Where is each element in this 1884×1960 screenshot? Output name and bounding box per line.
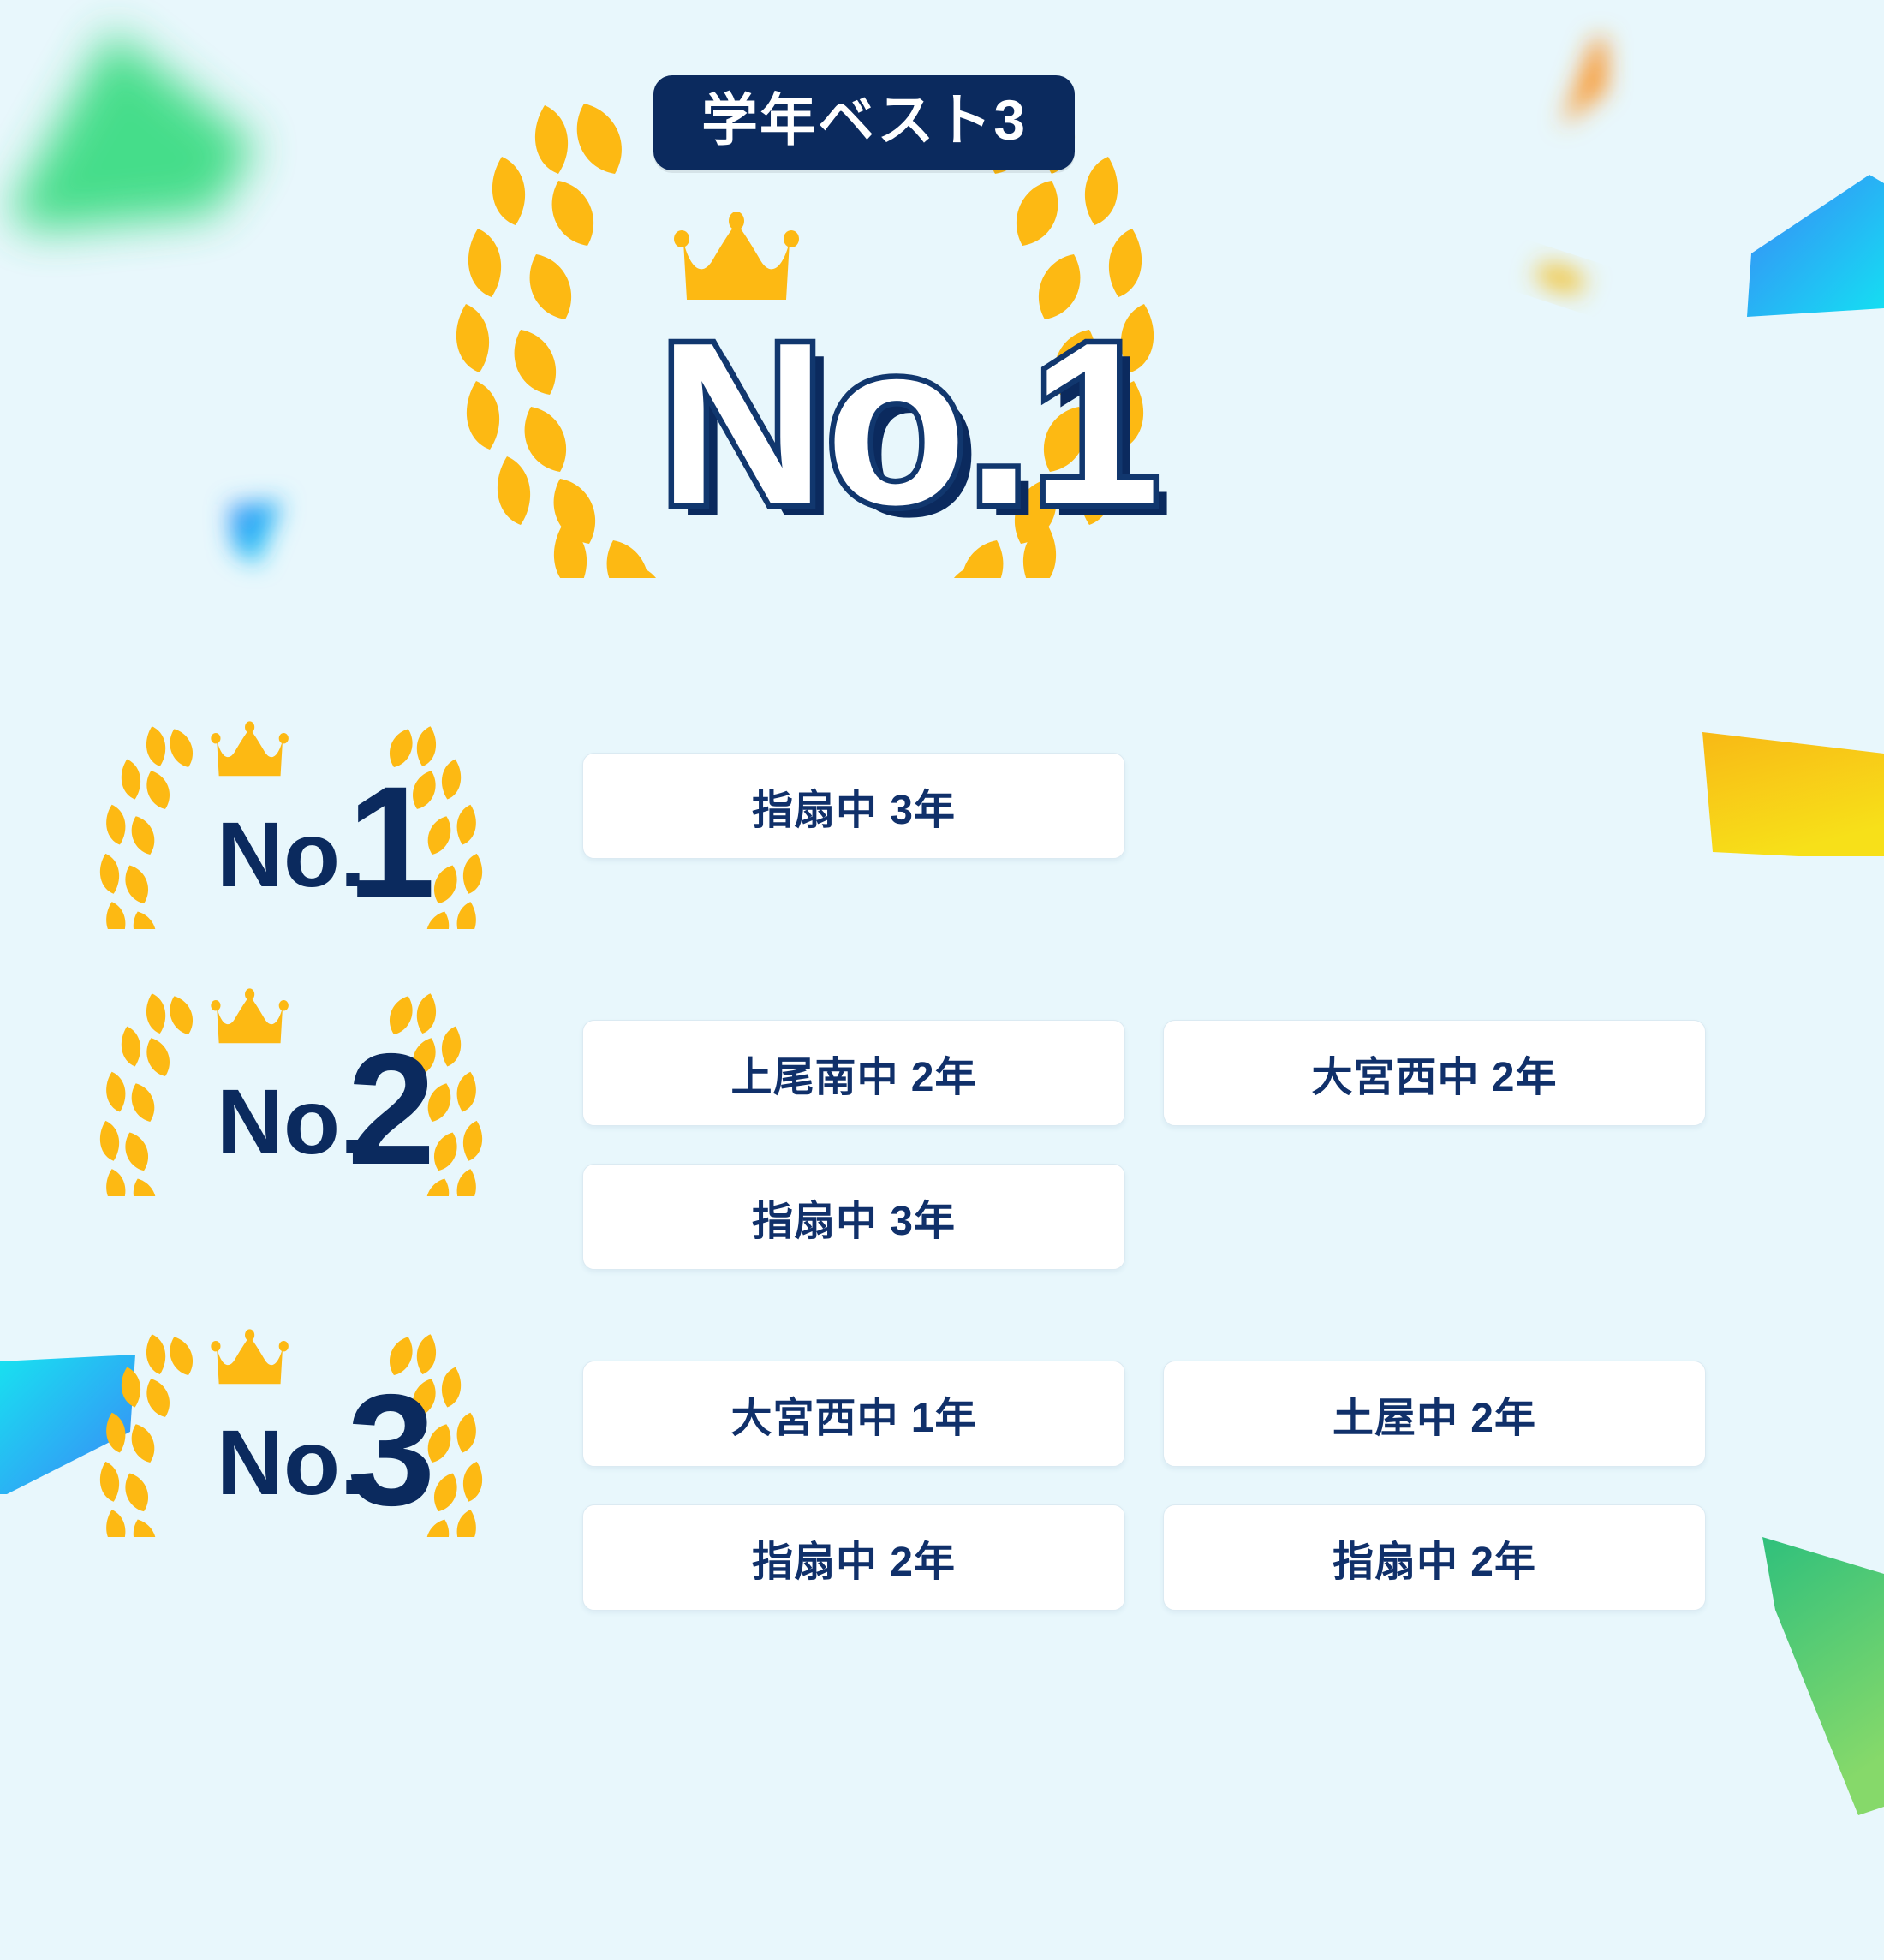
rank-medal-number: 3 — [348, 1362, 436, 1537]
result-card[interactable]: 大宮西中 2年 — [1163, 1020, 1706, 1126]
result-card[interactable]: 大宮西中 1年 — [582, 1361, 1125, 1467]
result-card[interactable]: 指扇中 3年 — [582, 1164, 1125, 1270]
ranking-row: No. 3 大宮西中 1年 土屋中 2年 指扇中 2年 指扇中 2年 — [0, 1323, 1884, 1611]
result-card[interactable]: 指扇中 2年 — [1163, 1504, 1706, 1611]
rank-medal-label: No. — [217, 802, 366, 906]
result-card-label: 指扇中 2年 — [1333, 1528, 1536, 1588]
result-card-label: 大宮西中 2年 — [1311, 1043, 1557, 1103]
grade-best3-badge-label: 学年ベスト3 — [701, 91, 1027, 150]
crown-icon — [211, 1329, 289, 1384]
rank-medal-label: No. — [217, 1410, 366, 1514]
rank-1-results: 指扇中 3年 — [582, 715, 1884, 859]
ranking-row: No. 2 上尾南中 2年 大宮西中 2年 指扇中 3年 — [0, 982, 1884, 1270]
rank-medal-1: No. 1 — [0, 715, 582, 929]
hero-rank-no1: No.1 No.1 — [638, 291, 1272, 565]
hero-section: 学年ベスト3 No.1 No.1 — [0, 0, 1884, 599]
result-card[interactable]: 上尾南中 2年 — [582, 1020, 1125, 1126]
result-card[interactable]: 指扇中 2年 — [582, 1504, 1125, 1611]
ranking-list: No. 1 指扇中 3年 — [0, 715, 1884, 1664]
rank-medal-number: 1 — [348, 754, 436, 929]
ranking-row: No. 1 指扇中 3年 — [0, 715, 1884, 929]
crown-icon — [211, 721, 289, 776]
result-card[interactable]: 指扇中 3年 — [582, 753, 1125, 859]
result-card-label: 上尾南中 2年 — [730, 1043, 976, 1103]
rank-medal-2: No. 2 — [0, 982, 582, 1196]
result-card-label: 指扇中 2年 — [752, 1528, 956, 1588]
result-card-label: 大宮西中 1年 — [730, 1384, 976, 1444]
rank-3-results: 大宮西中 1年 土屋中 2年 指扇中 2年 指扇中 2年 — [582, 1323, 1884, 1611]
svg-text:No.1: No.1 — [659, 295, 1160, 553]
grade-best3-badge: 学年ベスト3 — [653, 75, 1075, 170]
result-card-label: 指扇中 3年 — [752, 776, 956, 836]
rank-2-results: 上尾南中 2年 大宮西中 2年 指扇中 3年 — [582, 982, 1884, 1270]
rank-medal-label: No. — [217, 1069, 366, 1173]
result-card[interactable]: 土屋中 2年 — [1163, 1361, 1706, 1467]
rank-medal-3: No. 3 — [0, 1323, 582, 1537]
result-card-label: 指扇中 3年 — [752, 1187, 956, 1247]
crown-icon — [211, 988, 289, 1043]
rank-medal-number: 2 — [348, 1022, 436, 1196]
result-card-label: 土屋中 2年 — [1333, 1384, 1536, 1444]
